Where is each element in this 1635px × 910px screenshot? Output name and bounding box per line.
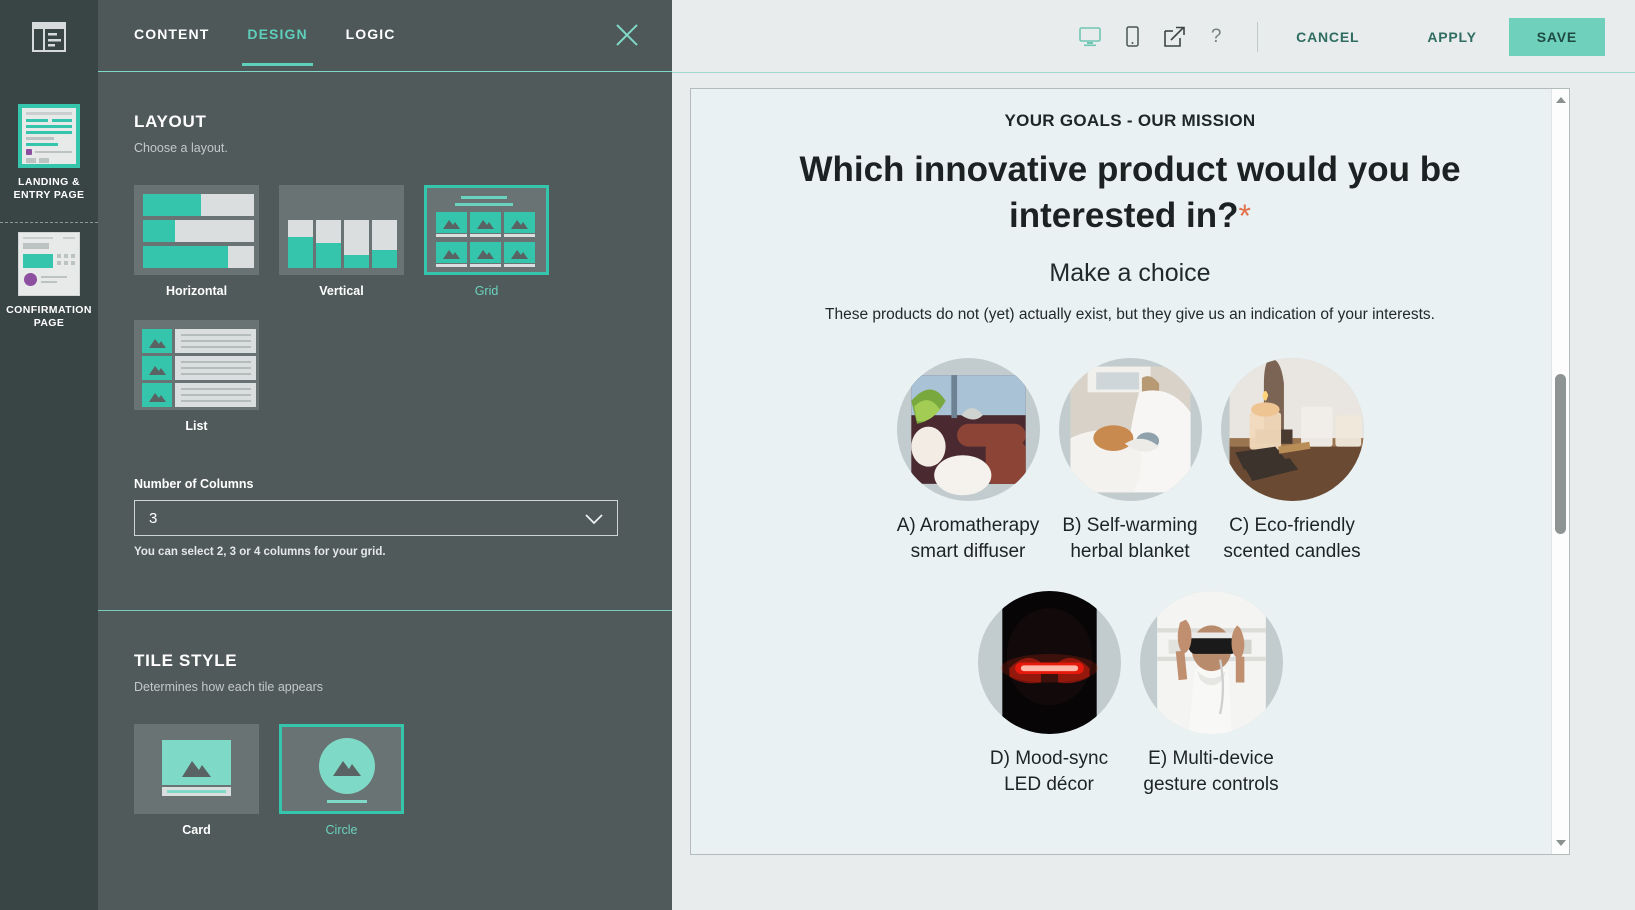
- close-icon[interactable]: [614, 22, 640, 48]
- tab-content[interactable]: CONTENT: [134, 26, 209, 66]
- page-title-text: Which innovative product would you be in…: [799, 150, 1460, 235]
- number-of-columns-label: Number of Columns: [134, 477, 636, 491]
- preview-area: ? CANCEL APPLY SAVE YOUR GOALS - OUR MIS…: [672, 0, 1635, 910]
- layout-option-label: Vertical: [279, 284, 404, 298]
- choice-tile-c[interactable]: C) Eco-friendly scented candles: [1218, 358, 1366, 565]
- card-style-preview: [134, 724, 259, 814]
- design-panel: CONTENT DESIGN LOGIC LAYOUT Choose a lay…: [98, 0, 672, 910]
- choice-tile-b[interactable]: B) Self-warming herbal blanket: [1056, 358, 1204, 565]
- open-external-icon[interactable]: [1161, 24, 1187, 50]
- rail-divider: [0, 222, 98, 223]
- tile-style-option-circle[interactable]: Circle: [279, 724, 404, 837]
- landing-page-thumbnail: [18, 104, 80, 168]
- scroll-up-icon[interactable]: [1556, 97, 1566, 103]
- choice-tile-label: E) Multi-device gesture controls: [1137, 746, 1285, 798]
- gesture-controls-image: [1140, 591, 1283, 734]
- tile-style-option-card[interactable]: Card: [134, 724, 259, 837]
- aromatherapy-diffuser-image: [897, 358, 1040, 501]
- choice-tile-a[interactable]: A) Aromatherapy smart diffuser: [894, 358, 1042, 565]
- page-rail: LANDING & ENTRY PAGE CONFIRMATION: [0, 0, 98, 910]
- layout-option-vertical[interactable]: Vertical: [279, 185, 404, 298]
- sidebar-item-label: CONFIRMATION: [6, 304, 92, 316]
- help-glyph: ?: [1211, 26, 1222, 48]
- tab-logic[interactable]: LOGIC: [346, 26, 396, 66]
- scented-candles-image: [1221, 358, 1364, 501]
- avatar: [1059, 358, 1202, 501]
- tile-style-title: TILE STYLE: [134, 651, 636, 671]
- panel-tabs: CONTENT DESIGN LOGIC: [134, 26, 396, 66]
- preview-scrollbar-thumb[interactable]: [1555, 374, 1566, 534]
- toolbar-icon-group: ?: [1077, 24, 1229, 50]
- layout-panel-icon: [32, 22, 66, 52]
- form-preview: YOUR GOALS - OUR MISSION Which innovativ…: [691, 89, 1569, 854]
- led-decor-image: [978, 591, 1121, 734]
- confirmation-page-thumbnail: [18, 232, 80, 296]
- layout-option-grid[interactable]: Grid: [424, 185, 549, 298]
- layout-options: Horizontal: [134, 185, 636, 298]
- choice-tile-label: C) Eco-friendly scented candles: [1218, 513, 1366, 565]
- choice-tile-label: A) Aromatherapy smart diffuser: [894, 513, 1042, 565]
- circle-style-preview: [279, 724, 404, 814]
- layout-option-label: List: [134, 419, 259, 433]
- required-marker: *: [1239, 198, 1251, 234]
- sidebar-item-landing-entry-page[interactable]: LANDING & ENTRY PAGE: [0, 104, 98, 202]
- number-of-columns-help: You can select 2, 3 or 4 columns for you…: [134, 546, 636, 558]
- tile-style-label: Card: [134, 823, 259, 837]
- avatar: [1221, 358, 1364, 501]
- tile-style-section: TILE STYLE Determines how each tile appe…: [98, 651, 672, 837]
- choice-tile-row-1: A) Aromatherapy smart diffuser: [731, 358, 1529, 565]
- apply-button[interactable]: APPLY: [1413, 29, 1490, 45]
- list-layout-preview: [134, 320, 259, 410]
- layout-section-title: LAYOUT: [134, 112, 636, 132]
- choice-tile-d[interactable]: D) Mood-sync LED décor: [975, 591, 1123, 798]
- number-of-columns-value: 3: [149, 510, 157, 527]
- avatar: [1140, 591, 1283, 734]
- save-button[interactable]: SAVE: [1509, 18, 1605, 56]
- number-of-columns-select[interactable]: 3: [134, 500, 618, 536]
- preview-content: YOUR GOALS - OUR MISSION Which innovativ…: [691, 89, 1569, 798]
- layout-option-label: Horizontal: [134, 284, 259, 298]
- help-icon[interactable]: ?: [1203, 24, 1229, 50]
- desktop-preview-icon[interactable]: [1077, 24, 1103, 50]
- tile-style-subtitle: Determines how each tile appears: [134, 680, 636, 694]
- layout-section: LAYOUT Choose a layout. Horizont: [98, 112, 672, 558]
- choice-tiles: A) Aromatherapy smart diffuser: [731, 358, 1529, 798]
- sidebar-item-label: LANDING &: [18, 176, 80, 188]
- preview-subtitle: Make a choice: [731, 259, 1529, 288]
- layout-options-row2: List: [134, 320, 636, 433]
- chevron-down-icon: [585, 512, 603, 529]
- toolbar-divider: [1257, 22, 1258, 52]
- layout-option-label: Grid: [424, 284, 549, 298]
- tile-style-label: Circle: [279, 823, 404, 837]
- layout-option-list[interactable]: List: [134, 320, 259, 433]
- app-logo[interactable]: [0, 0, 98, 73]
- scroll-down-icon[interactable]: [1556, 840, 1566, 846]
- herbal-blanket-image: [1059, 358, 1202, 501]
- vertical-layout-preview: [279, 185, 404, 275]
- choice-tile-row-2: D) Mood-sync LED décor: [731, 591, 1529, 798]
- choice-tile-e[interactable]: E) Multi-device gesture controls: [1137, 591, 1285, 798]
- preview-scrollbar[interactable]: [1551, 89, 1569, 854]
- section-divider: [98, 610, 672, 611]
- top-toolbar: ? CANCEL APPLY SAVE: [672, 0, 1635, 73]
- horizontal-layout-preview: [134, 185, 259, 275]
- sidebar-item-label-2: ENTRY PAGE: [14, 189, 85, 201]
- tab-design[interactable]: DESIGN: [247, 26, 307, 66]
- panel-body: LAYOUT Choose a layout. Horizont: [98, 72, 672, 910]
- choice-tile-label: B) Self-warming herbal blanket: [1056, 513, 1204, 565]
- tile-style-options: Card Circle: [134, 724, 636, 837]
- cancel-button[interactable]: CANCEL: [1282, 29, 1373, 45]
- sidebar-item-label-2: PAGE: [34, 317, 65, 329]
- preview-eyebrow: YOUR GOALS - OUR MISSION: [731, 111, 1529, 131]
- layout-section-subtitle: Choose a layout.: [134, 141, 636, 155]
- app-root: LANDING & ENTRY PAGE CONFIRMATION: [0, 0, 1635, 910]
- layout-option-horizontal[interactable]: Horizontal: [134, 185, 259, 298]
- preview-frame: YOUR GOALS - OUR MISSION Which innovativ…: [690, 88, 1570, 855]
- avatar: [978, 591, 1121, 734]
- sidebar-item-confirmation-page[interactable]: CONFIRMATION PAGE: [0, 232, 98, 330]
- grid-layout-preview: [424, 185, 549, 275]
- choice-tile-label: D) Mood-sync LED décor: [975, 746, 1123, 798]
- mobile-preview-icon[interactable]: [1119, 24, 1145, 50]
- panel-header: CONTENT DESIGN LOGIC: [98, 0, 672, 72]
- page-title: Which innovative product would you be in…: [731, 147, 1529, 239]
- avatar: [897, 358, 1040, 501]
- preview-description: These products do not (yet) actually exi…: [731, 306, 1529, 324]
